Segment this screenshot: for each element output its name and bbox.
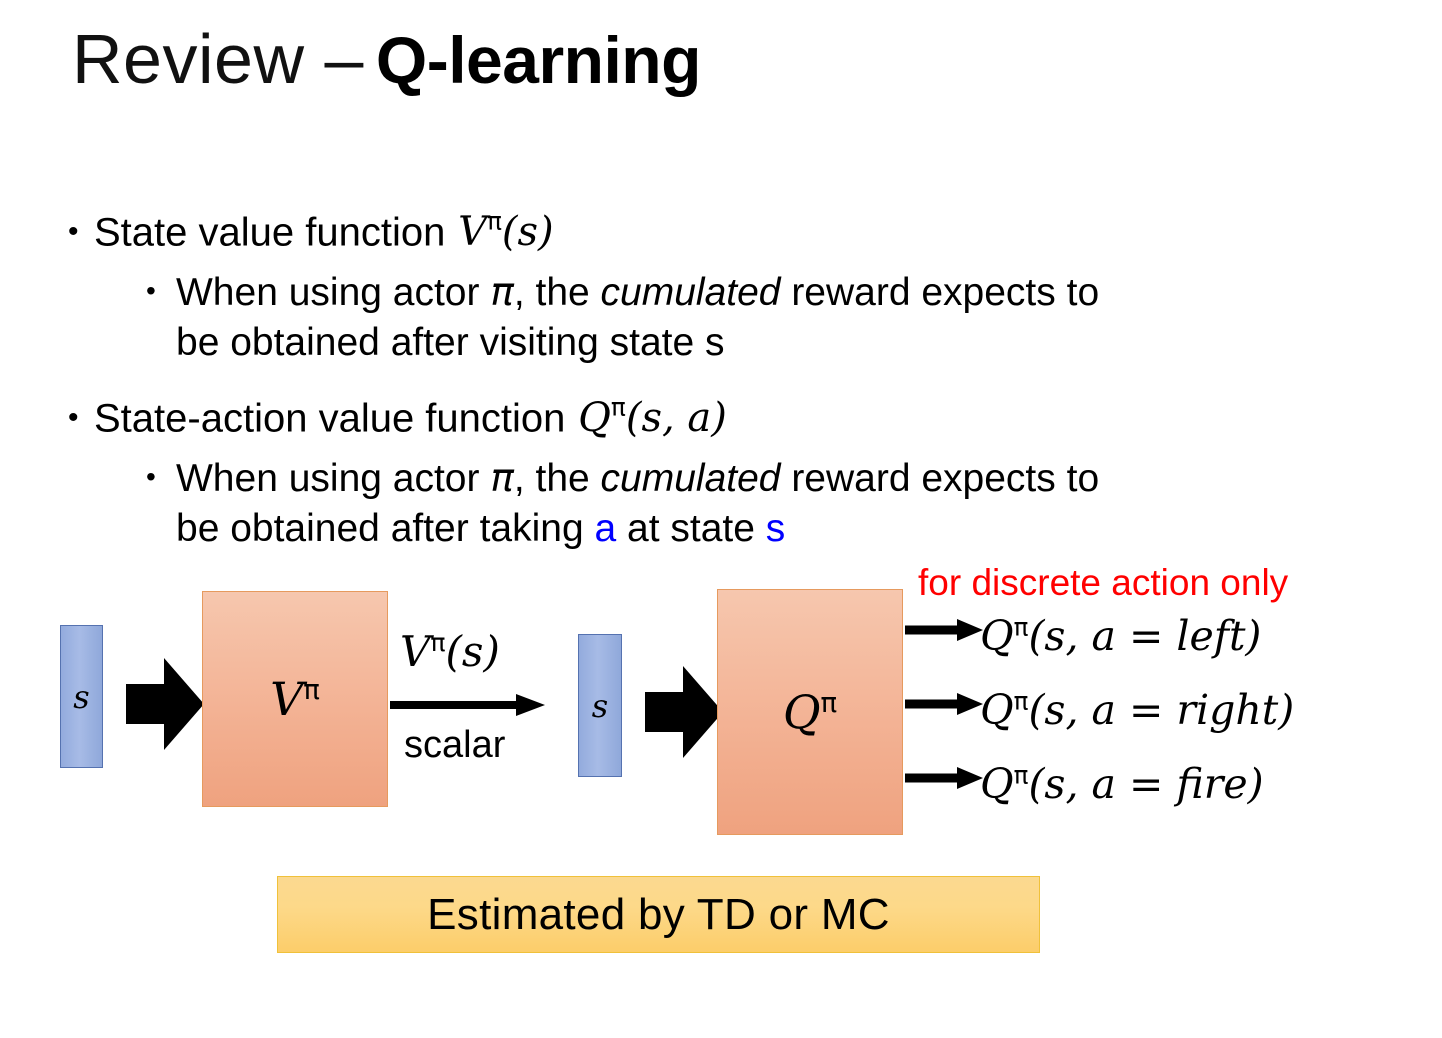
q-output-label-right: Qπ(s, a = right) [980,686,1294,734]
v-function-symbol: Vπ [270,672,320,726]
estimation-banner: Estimated by TD or MC [277,876,1040,953]
arrow-icon-q-output-fire [905,766,983,790]
arrow-icon-v-output [390,693,545,717]
estimation-banner-label: Estimated by TD or MC [427,890,890,940]
v-output-sublabel: scalar [404,724,505,767]
value-function-diagram: s Vπ Vπ(s) scalar s Qπ [0,0,1442,1038]
arrow-icon-q-output-right [905,692,983,716]
q-head: Q [980,760,1014,808]
q-sup: π [1014,612,1029,641]
state-input-label-v: s [73,678,89,716]
discrete-action-note: for discrete action only [918,562,1288,604]
q-args: (s, a = left) [1028,612,1261,660]
q-output-label-left: Qπ(s, a = left) [980,612,1261,660]
q-args: (s, a = right) [1028,686,1294,734]
block-arrow-icon-v [126,658,204,750]
q-function-symbol: Qπ [783,685,837,739]
state-input-box-v: s [60,625,103,768]
q-sup: π [1014,760,1029,789]
block-arrow-icon-q [645,666,723,758]
slide-canvas: Review –Q-learning •State value function… [0,0,1442,1038]
q-function-box: Qπ [717,589,903,835]
q-args: (s, a = fire) [1028,760,1263,808]
q-head: Q [980,686,1014,734]
q-head: Q [980,612,1014,660]
q-output-label-fire: Qπ(s, a = fire) [980,760,1264,808]
state-input-label-q: s [592,687,608,725]
arrow-icon-q-output-left [905,618,983,642]
v-output-label: Vπ(s) [400,627,500,676]
state-input-box-q: s [578,634,622,777]
v-function-box: Vπ [202,591,388,807]
q-sup: π [1014,686,1029,715]
